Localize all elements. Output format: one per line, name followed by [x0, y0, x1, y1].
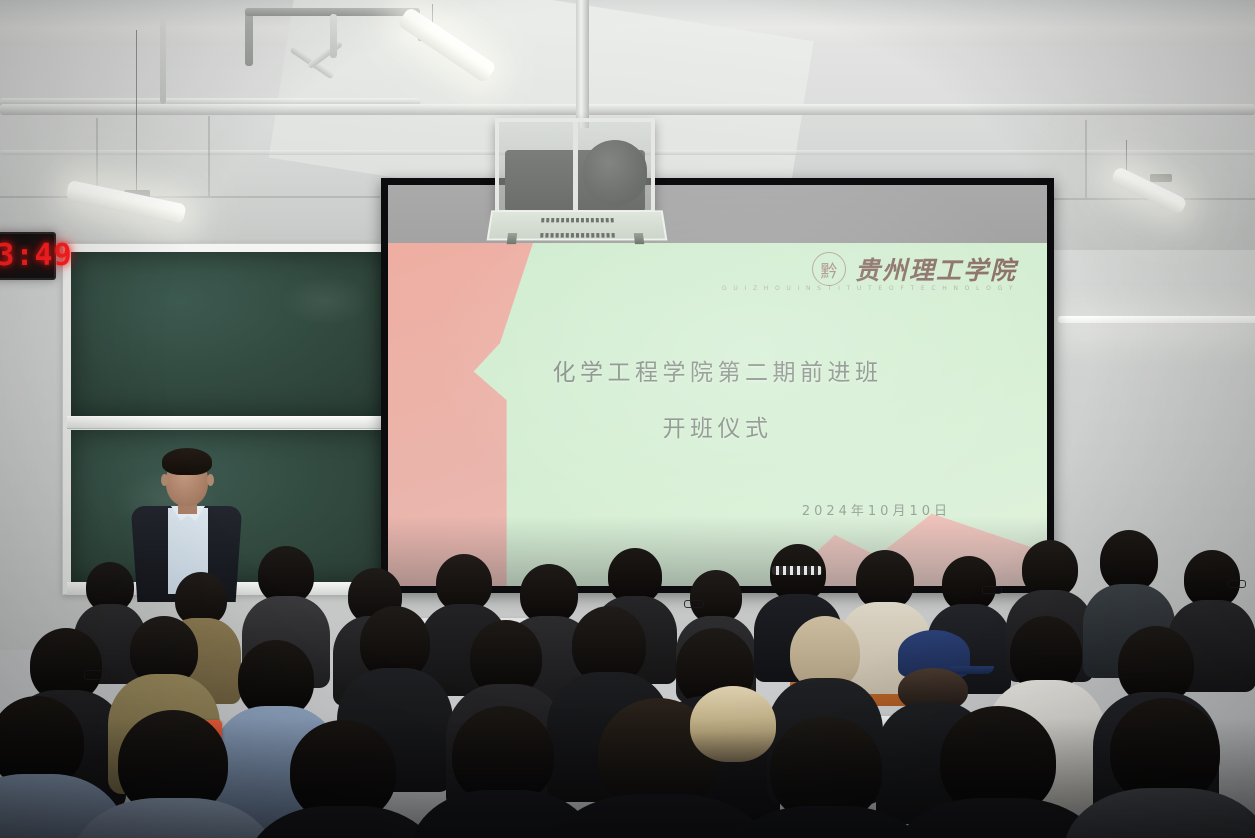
wall-conduit-vertical-left [160, 18, 166, 104]
presenter-ear-right [207, 474, 214, 486]
clock-time: 13:49 [0, 241, 73, 271]
conduit-drop-right [330, 14, 337, 58]
head [1100, 530, 1158, 592]
slide-title: 化学工程学院第二期前进班 [388, 353, 1047, 387]
institution-seal-icon: 黔 [812, 252, 846, 286]
conduit-bend-upper [245, 8, 253, 66]
classroom-scene: 13:49 黔 贵州理工学院 G U I Z H O U I N S T I T… [0, 0, 1255, 838]
glasses [982, 586, 1002, 594]
presenter-ear-left [161, 474, 168, 486]
wall-seam-v1 [96, 118, 98, 196]
wall-light-strip-right [1058, 316, 1255, 323]
audience [0, 520, 1255, 838]
projector-foot-left [507, 233, 517, 244]
lamp-bracket-right [1150, 174, 1172, 182]
wall-seam-h1 [0, 196, 380, 198]
head [856, 550, 914, 610]
presenter-hair [162, 448, 212, 475]
blackboard-panel-upper [71, 252, 385, 416]
lamp-wire-left [136, 30, 137, 198]
slide-date: 2024年10月10日 [802, 500, 951, 519]
chalk-smudge-1 [281, 276, 371, 326]
projector-security-cage [495, 118, 655, 214]
wall-seam-v3 [1085, 120, 1087, 198]
knit-beanie [772, 566, 822, 575]
glasses [84, 670, 110, 680]
slide-subtitle: 开班仪式 [388, 409, 1047, 443]
institution-logo-subtext: G U I Z H O U I N S T I T U T E O F T E … [722, 285, 1015, 292]
institution-logo-text: 贵州理工学院 [855, 251, 1017, 287]
projector-mount-pole [576, 0, 589, 128]
head [520, 564, 578, 624]
projector-vent-row-1 [491, 218, 662, 222]
blackboard-center-rail [67, 416, 389, 429]
glasses [1228, 580, 1246, 588]
projector-foot-right [634, 233, 644, 244]
wall-seam-v2 [208, 116, 210, 196]
cage-bar-center [573, 122, 578, 210]
glasses [684, 600, 704, 608]
institution-logo: 黔 贵州理工学院 G U I Z H O U I N S T I T U T E… [812, 251, 1017, 287]
digital-clock: 13:49 [0, 232, 56, 280]
blonde-dyed-hair [690, 686, 776, 762]
projector-base-plate [487, 210, 668, 240]
ceiling-pipe-horizontal-2 [0, 104, 1255, 115]
